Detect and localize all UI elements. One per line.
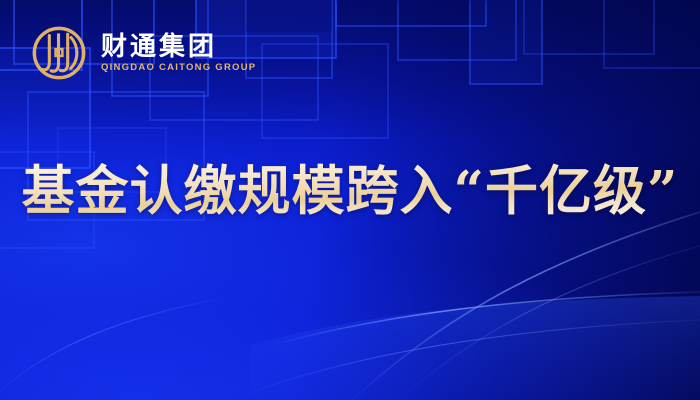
headline-block: 基金认缴规模跨入“千亿级” [0, 163, 700, 220]
caitong-circular-emblem-icon [30, 24, 88, 82]
headline-title: 基金认缴规模跨入“千亿级” [22, 163, 679, 220]
promo-banner: 财通集团 QINGDAO CAITONG GROUP 基金认缴规模跨入“千亿级” [0, 0, 700, 400]
brand-name-en: QINGDAO CAITONG GROUP [101, 63, 256, 73]
brand-name-cn: 财通集团 [101, 34, 256, 60]
brand-lockup: 财通集团 QINGDAO CAITONG GROUP [30, 24, 256, 82]
brand-text-block: 财通集团 QINGDAO CAITONG GROUP [101, 33, 256, 73]
